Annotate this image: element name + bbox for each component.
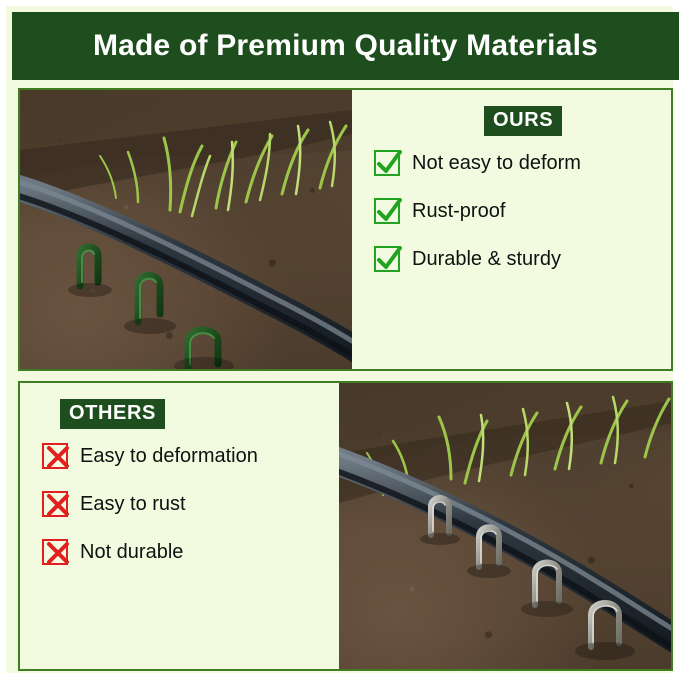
feature-text: Not easy to deform	[412, 152, 581, 174]
feature-text: Rust-proof	[412, 200, 505, 222]
feature-text: Durable & sturdy	[412, 248, 561, 270]
list-item: Not durable	[42, 539, 325, 565]
label-row-ours: OURS	[484, 106, 657, 150]
content-others: OTHERS Easy to deformation Easy to rust	[20, 383, 339, 669]
list-item: Easy to rust	[42, 491, 325, 517]
photo-ours-artwork	[20, 90, 352, 369]
panel-others: OTHERS Easy to deformation Easy to rust	[18, 381, 673, 671]
list-item: Not easy to deform	[374, 150, 657, 176]
header-banner: Made of Premium Quality Materials	[12, 12, 679, 80]
feature-text: Easy to deformation	[80, 445, 258, 467]
cross-icon	[42, 539, 68, 565]
feature-list-others: Easy to deformation Easy to rust Not dur…	[42, 443, 325, 565]
list-item: Easy to deformation	[42, 443, 325, 469]
label-chip-others: OTHERS	[60, 399, 165, 429]
panel-ours: OURS Not easy to deform Rust-proof	[18, 88, 673, 371]
list-item: Rust-proof	[374, 198, 657, 224]
label-chip-ours: OURS	[484, 106, 562, 136]
content-ours: OURS Not easy to deform Rust-proof	[352, 90, 671, 369]
feature-text: Not durable	[80, 541, 183, 563]
cross-icon	[42, 443, 68, 469]
photo-ours	[20, 90, 352, 369]
label-row-others: OTHERS	[60, 399, 325, 443]
check-icon	[374, 246, 400, 272]
infographic-page: Made of Premium Quality Materials	[0, 0, 679, 679]
check-icon	[374, 150, 400, 176]
feature-text: Easy to rust	[80, 493, 186, 515]
feature-list-ours: Not easy to deform Rust-proof Durable & …	[374, 150, 657, 272]
photo-others	[339, 383, 671, 669]
cross-icon	[42, 491, 68, 517]
page-title: Made of Premium Quality Materials	[93, 29, 598, 63]
check-icon	[374, 198, 400, 224]
list-item: Durable & sturdy	[374, 246, 657, 272]
photo-others-artwork	[339, 383, 671, 669]
